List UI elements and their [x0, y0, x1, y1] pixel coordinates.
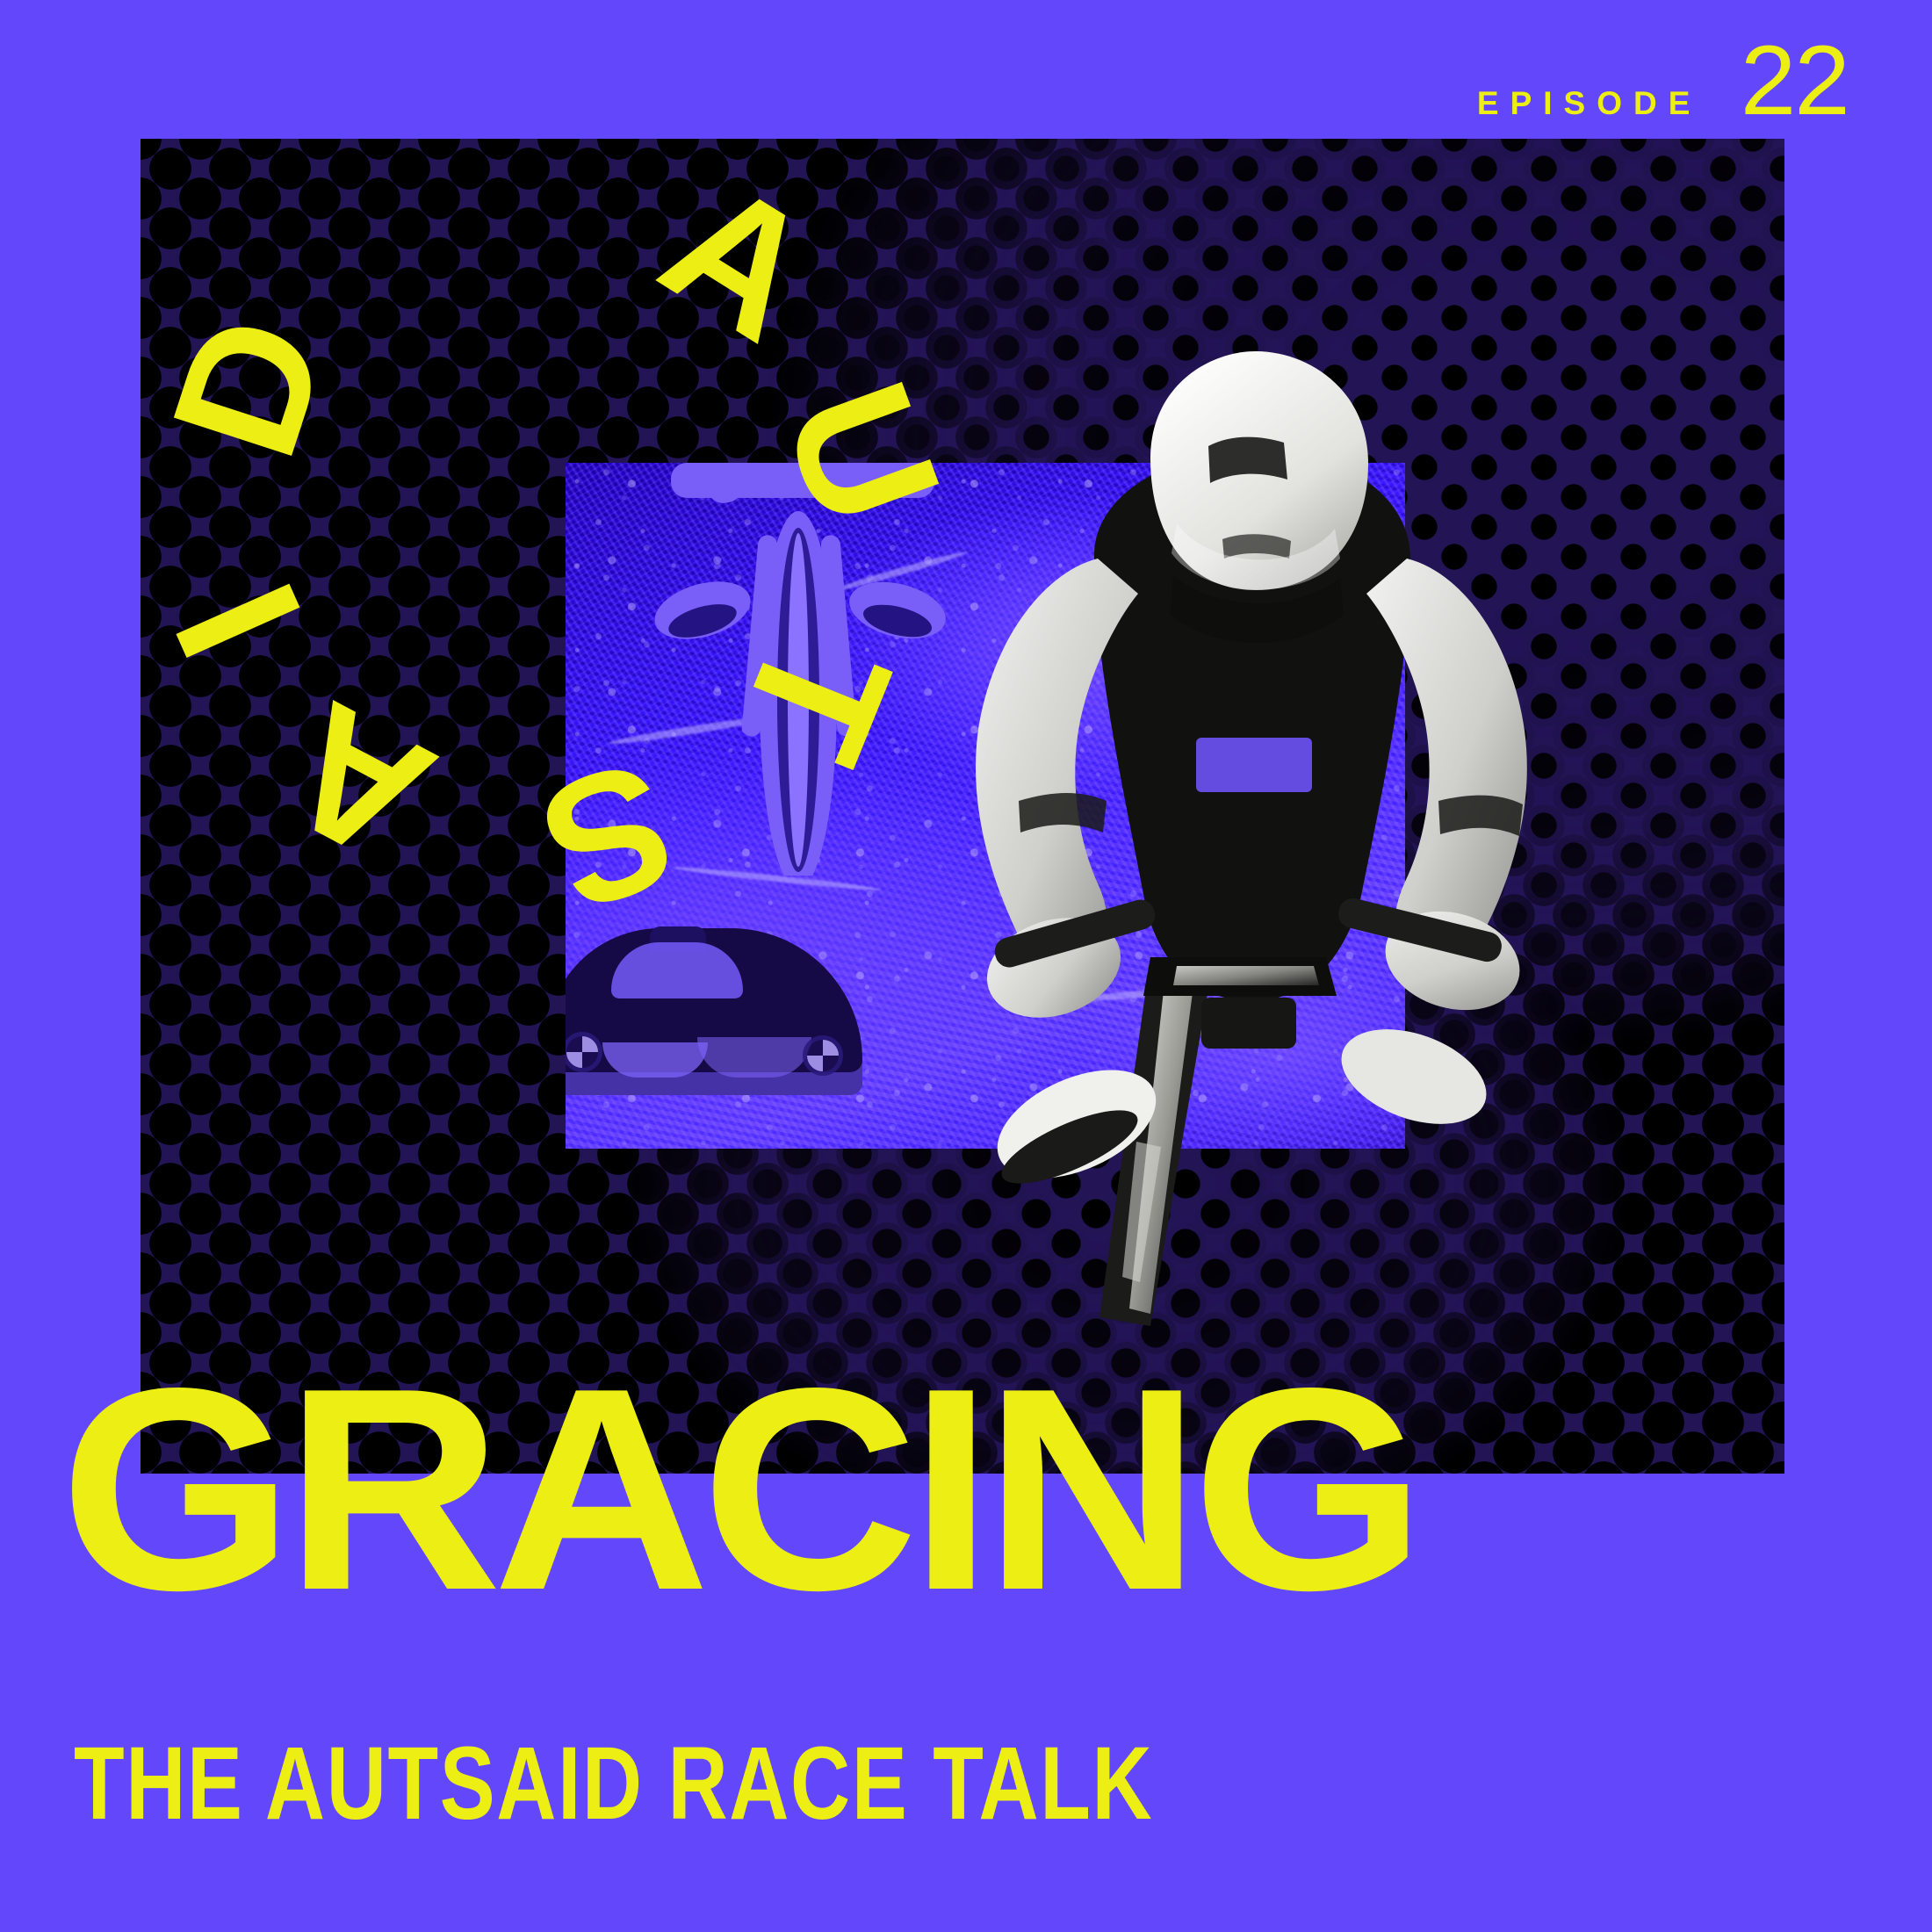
show-title: GRACING: [60, 1377, 1417, 1602]
ring-letter-d: D: [143, 297, 355, 476]
car-badge-right: [803, 1035, 843, 1076]
show-subtitle: THE AUTSAID RACE TALK: [74, 1732, 1153, 1835]
ring-letter-i: I: [146, 561, 330, 680]
ring-letter-u: U: [755, 362, 969, 545]
car-badge-left: [566, 1032, 602, 1072]
episode-label: EPISODE: [1477, 87, 1702, 119]
ring-letter-s: S: [521, 731, 696, 941]
circular-wordmark-autsaid: A U T S A I D: [97, 70, 992, 966]
ring-letter-a2: A: [257, 673, 457, 893]
car-headlight-left: [602, 1042, 708, 1078]
ring-letter-a1: A: [637, 149, 842, 371]
car-headlight-right: [697, 1037, 811, 1078]
ring-letter-t: T: [711, 613, 919, 782]
podcast-cover-art: A U T S A I D EPISODE 22 GRACING THE AUT…: [0, 0, 1932, 1932]
episode-number: 22: [1741, 40, 1849, 121]
episode-badge: EPISODE 22: [1477, 40, 1848, 121]
